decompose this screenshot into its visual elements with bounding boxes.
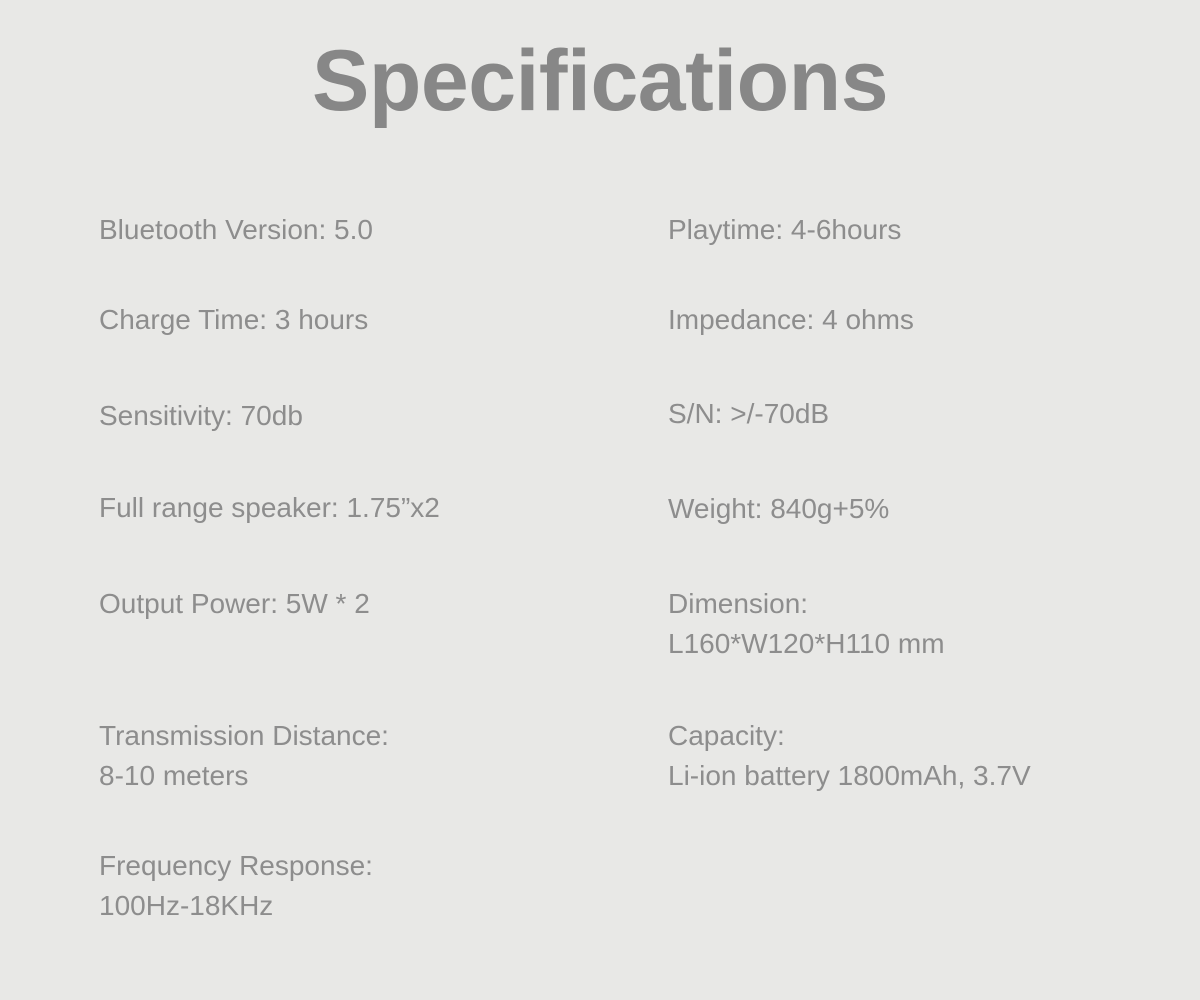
spec-item-line: Li-ion battery 1800mAh, 3.7V [668, 756, 1031, 796]
spec-item-line: Impedance: 4 ohms [668, 300, 914, 340]
spec-item: Frequency Response:100Hz-18KHz [99, 846, 373, 926]
spec-item-line: Charge Time: 3 hours [99, 300, 368, 340]
spec-item: Charge Time: 3 hours [99, 300, 368, 340]
spec-item: S/N: >/-70dB [668, 394, 829, 434]
spec-item: Sensitivity: 70db [99, 396, 303, 436]
spec-item: Output Power: 5W * 2 [99, 584, 370, 624]
spec-item: Dimension:L160*W120*H110 mm [668, 584, 945, 664]
spec-item: Playtime: 4-6hours [668, 210, 901, 250]
spec-item: Full range speaker: 1.75”x2 [99, 488, 440, 528]
spec-item-line: 8-10 meters [99, 756, 389, 796]
spec-item-line: Frequency Response: [99, 846, 373, 886]
spec-item-line: L160*W120*H110 mm [668, 624, 945, 664]
spec-item-line: Bluetooth Version: 5.0 [99, 210, 373, 250]
spec-item-line: Transmission Distance: [99, 716, 389, 756]
spec-item: Bluetooth Version: 5.0 [99, 210, 373, 250]
spec-item-line: Output Power: 5W * 2 [99, 584, 370, 624]
spec-item-line: Playtime: 4-6hours [668, 210, 901, 250]
spec-item-line: Dimension: [668, 584, 945, 624]
page-title: Specifications [0, 38, 1200, 124]
spec-item: Impedance: 4 ohms [668, 300, 914, 340]
spec-item: Weight: 840g+5% [668, 489, 889, 529]
spec-item-line: 100Hz-18KHz [99, 886, 373, 926]
spec-item-line: S/N: >/-70dB [668, 394, 829, 434]
specifications-sheet: Specifications Bluetooth Version: 5.0Cha… [0, 0, 1200, 1000]
spec-item: Capacity:Li-ion battery 1800mAh, 3.7V [668, 716, 1031, 796]
spec-item-line: Full range speaker: 1.75”x2 [99, 488, 440, 528]
spec-item: Transmission Distance:8-10 meters [99, 716, 389, 796]
spec-item-line: Weight: 840g+5% [668, 489, 889, 529]
spec-item-line: Capacity: [668, 716, 1031, 756]
spec-item-line: Sensitivity: 70db [99, 396, 303, 436]
